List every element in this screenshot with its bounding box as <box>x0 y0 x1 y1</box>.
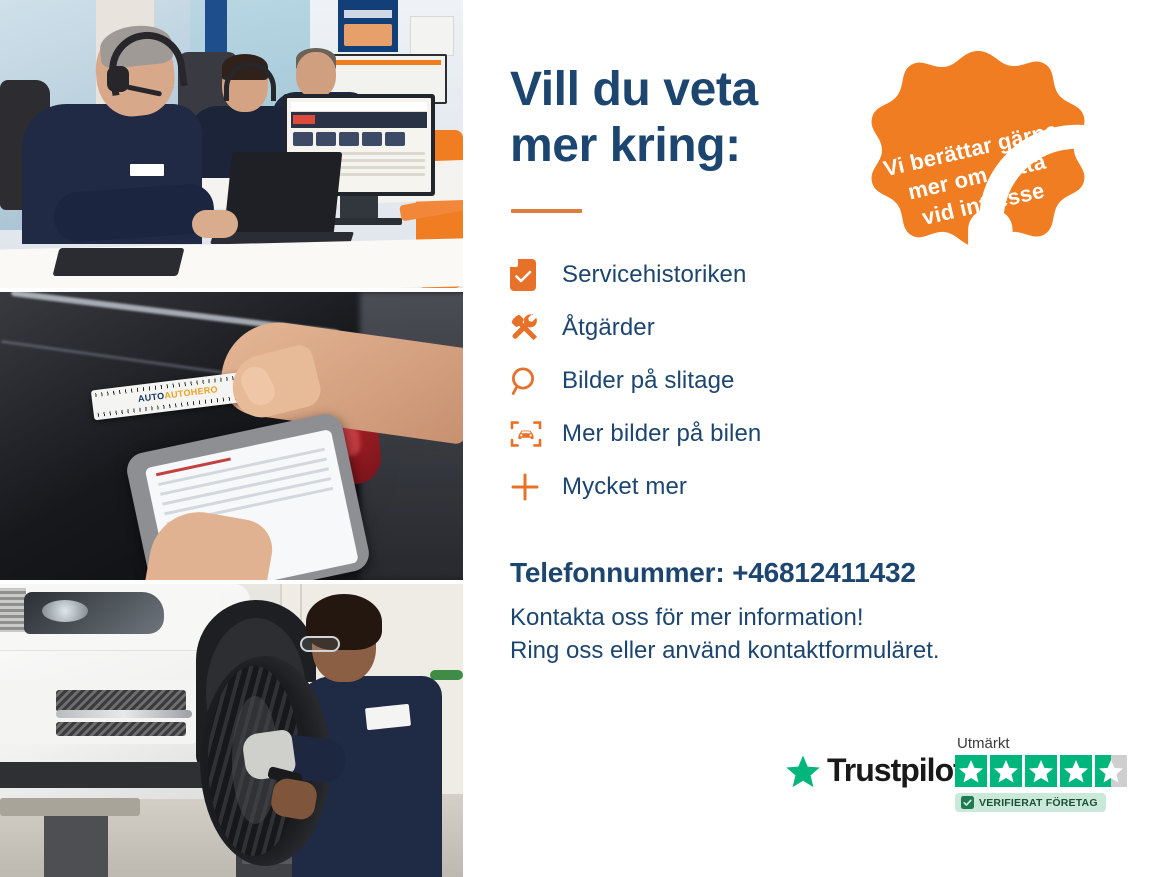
verified-badge: VERIFIERAT FÖRETAG <box>955 793 1106 812</box>
title-divider <box>511 209 582 213</box>
trustpilot-rating: Utmärkt VERIFIERAT FÖRETAG <box>955 735 1127 814</box>
car-inspection-photo: AUTOAUTOHERO <box>0 292 463 580</box>
plus-icon <box>510 472 562 502</box>
photo-column: AUTOAUTOHERO <box>0 0 463 877</box>
list-item-label: Åtgärder <box>562 314 655 342</box>
verified-check-icon <box>961 796 974 809</box>
phone-label: Telefonnummer: <box>510 557 724 588</box>
promo-banner: AUTOAUTOHERO <box>0 0 1170 877</box>
list-item: Mer bilder på bilen <box>510 407 940 460</box>
rating-label: Utmärkt <box>957 735 1127 752</box>
trustpilot-star-icon <box>785 754 821 788</box>
headline-line-2: mer kring: <box>510 118 890 174</box>
magnifier-icon <box>510 366 562 396</box>
star-filled <box>955 755 987 787</box>
content-column: Vill du veta mer kring: Vi berättar gärn… <box>463 0 1170 877</box>
list-item: Mycket mer <box>510 460 940 513</box>
list-item: Servicehistoriken <box>510 248 940 301</box>
verified-label: VERIFIERAT FÖRETAG <box>979 797 1098 809</box>
list-item-label: Mer bilder på bilen <box>562 420 761 448</box>
car-scan-icon <box>510 419 562 449</box>
list-item: Åtgärder <box>510 301 940 354</box>
contact-line-1: Kontakta oss för mer information! <box>510 602 1070 635</box>
trustpilot-wordmark: Trustpilot <box>827 752 963 789</box>
star-filled <box>1060 755 1092 787</box>
trustpilot-widget[interactable]: Trustpilot Utmärkt VERIFIERAT FÖRETAG <box>785 735 1135 825</box>
list-item-label: Servicehistoriken <box>562 261 746 289</box>
star-half <box>1095 755 1127 787</box>
page-title: Vill du veta mer kring: <box>510 62 890 174</box>
headline-line-1: Vill du veta <box>510 62 890 118</box>
contact-block: Telefonnummer: +46812411432 Kontakta oss… <box>510 557 1070 667</box>
list-item: Bilder på slitage <box>510 354 940 407</box>
call-center-agents-photo <box>0 0 463 288</box>
tools-icon <box>510 313 562 343</box>
list-item-label: Bilder på slitage <box>562 367 734 395</box>
autohero-brand-text: AUTOHERO <box>164 384 219 400</box>
star-filled <box>1025 755 1057 787</box>
star-rating <box>955 755 1127 787</box>
trustpilot-logo: Trustpilot <box>785 752 963 789</box>
tyre-service-photo <box>0 584 463 877</box>
feature-list: Servicehistoriken Åtgärder <box>510 248 940 513</box>
contact-line-2: Ring oss eller använd kontaktformuläret. <box>510 635 1070 668</box>
star-filled <box>990 755 1022 787</box>
list-item-label: Mycket mer <box>562 473 687 501</box>
document-check-icon <box>510 259 562 291</box>
phone-number[interactable]: +46812411432 <box>732 557 916 588</box>
phone-line: Telefonnummer: +46812411432 <box>510 557 1070 589</box>
